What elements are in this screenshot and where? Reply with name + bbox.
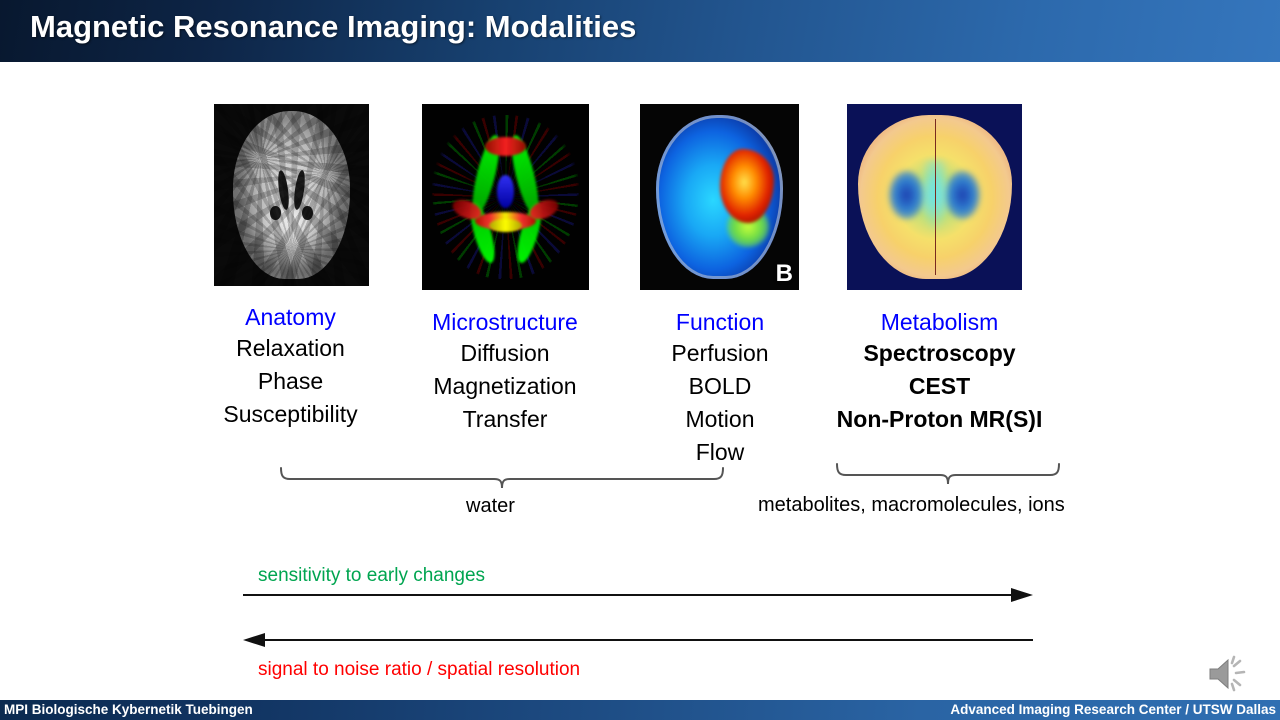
column-item-function-0: Perfusion (620, 337, 820, 370)
column-title-metabolism: Metabolism (808, 307, 1071, 337)
column-title-function: Function (620, 307, 820, 337)
midline-marker (935, 119, 936, 275)
brace-water-path (281, 468, 723, 488)
cest-cool-region-left (889, 171, 924, 219)
mri-image-anatomy (214, 104, 369, 286)
slide-canvas: Magnetic Resonance Imaging: Modalities (0, 0, 1280, 720)
arrow-label-snr: signal to noise ratio / spatial resoluti… (258, 659, 580, 681)
column-metabolism: Metabolism Spectroscopy CEST Non-Proton … (808, 307, 1071, 436)
mri-image-metabolism (847, 104, 1022, 290)
column-title-microstructure: Microstructure (390, 307, 620, 337)
anatomy-image-content (214, 104, 369, 286)
column-microstructure: Microstructure Diffusion Magnetization T… (390, 307, 620, 436)
column-function: Function Perfusion BOLD Motion Flow (620, 307, 820, 469)
column-title-anatomy: Anatomy (178, 302, 403, 332)
column-item-anatomy-2: Susceptibility (178, 398, 403, 431)
column-item-anatomy-1: Phase (178, 365, 403, 398)
brace-label-metabolites: metabolites, macromolecules, ions (758, 494, 1065, 517)
skull-rim (656, 115, 783, 279)
column-item-anatomy-0: Relaxation (178, 332, 403, 365)
column-item-microstructure-2: Transfer (390, 403, 620, 436)
column-item-function-2: Motion (620, 403, 820, 436)
brace-metabolites-path (837, 464, 1059, 484)
tract-blue-central (497, 175, 514, 208)
arrow-bottom-head (243, 633, 265, 647)
panel-letter-label: B (776, 260, 793, 288)
footer-left-text: MPI Biologische Kybernetik Tuebingen (4, 702, 253, 717)
arrow-sensitivity (243, 586, 1033, 604)
arrow-label-sensitivity: sensitivity to early changes (258, 565, 485, 587)
dti-image-content (422, 104, 589, 290)
speaker-waves (1232, 657, 1244, 690)
brace-metabolites (834, 462, 1062, 486)
speaker-icon[interactable] (1204, 654, 1252, 694)
title-bar: Magnetic Resonance Imaging: Modalities (0, 0, 1280, 62)
column-item-function-1: BOLD (620, 370, 820, 403)
brace-label-water: water (466, 495, 515, 518)
column-item-microstructure-1: Magnetization (390, 370, 620, 403)
footer-right-text: Advanced Imaging Research Center / UTSW … (950, 702, 1276, 717)
brace-water (278, 466, 726, 490)
column-item-function-3: Flow (620, 436, 820, 469)
arrow-snr (243, 631, 1033, 649)
mri-image-microstructure (422, 104, 589, 290)
tract-red-genu (485, 137, 525, 156)
column-item-metabolism-1: CEST (808, 370, 1071, 403)
speaker-body (1210, 660, 1228, 688)
cest-image-content (847, 104, 1022, 290)
cest-cool-region-right (945, 171, 980, 219)
mri-image-function: B (640, 104, 799, 290)
page-title: Magnetic Resonance Imaging: Modalities (30, 9, 636, 45)
column-anatomy: Anatomy Relaxation Phase Susceptibility (178, 302, 403, 431)
column-item-microstructure-0: Diffusion (390, 337, 620, 370)
column-item-metabolism-0: Spectroscopy (808, 337, 1071, 370)
grey-matter-texture (214, 104, 369, 286)
perfusion-image-content: B (640, 104, 799, 290)
arrow-top-head (1011, 588, 1033, 602)
column-item-metabolism-2: Non-Proton MR(S)I (808, 403, 1071, 436)
